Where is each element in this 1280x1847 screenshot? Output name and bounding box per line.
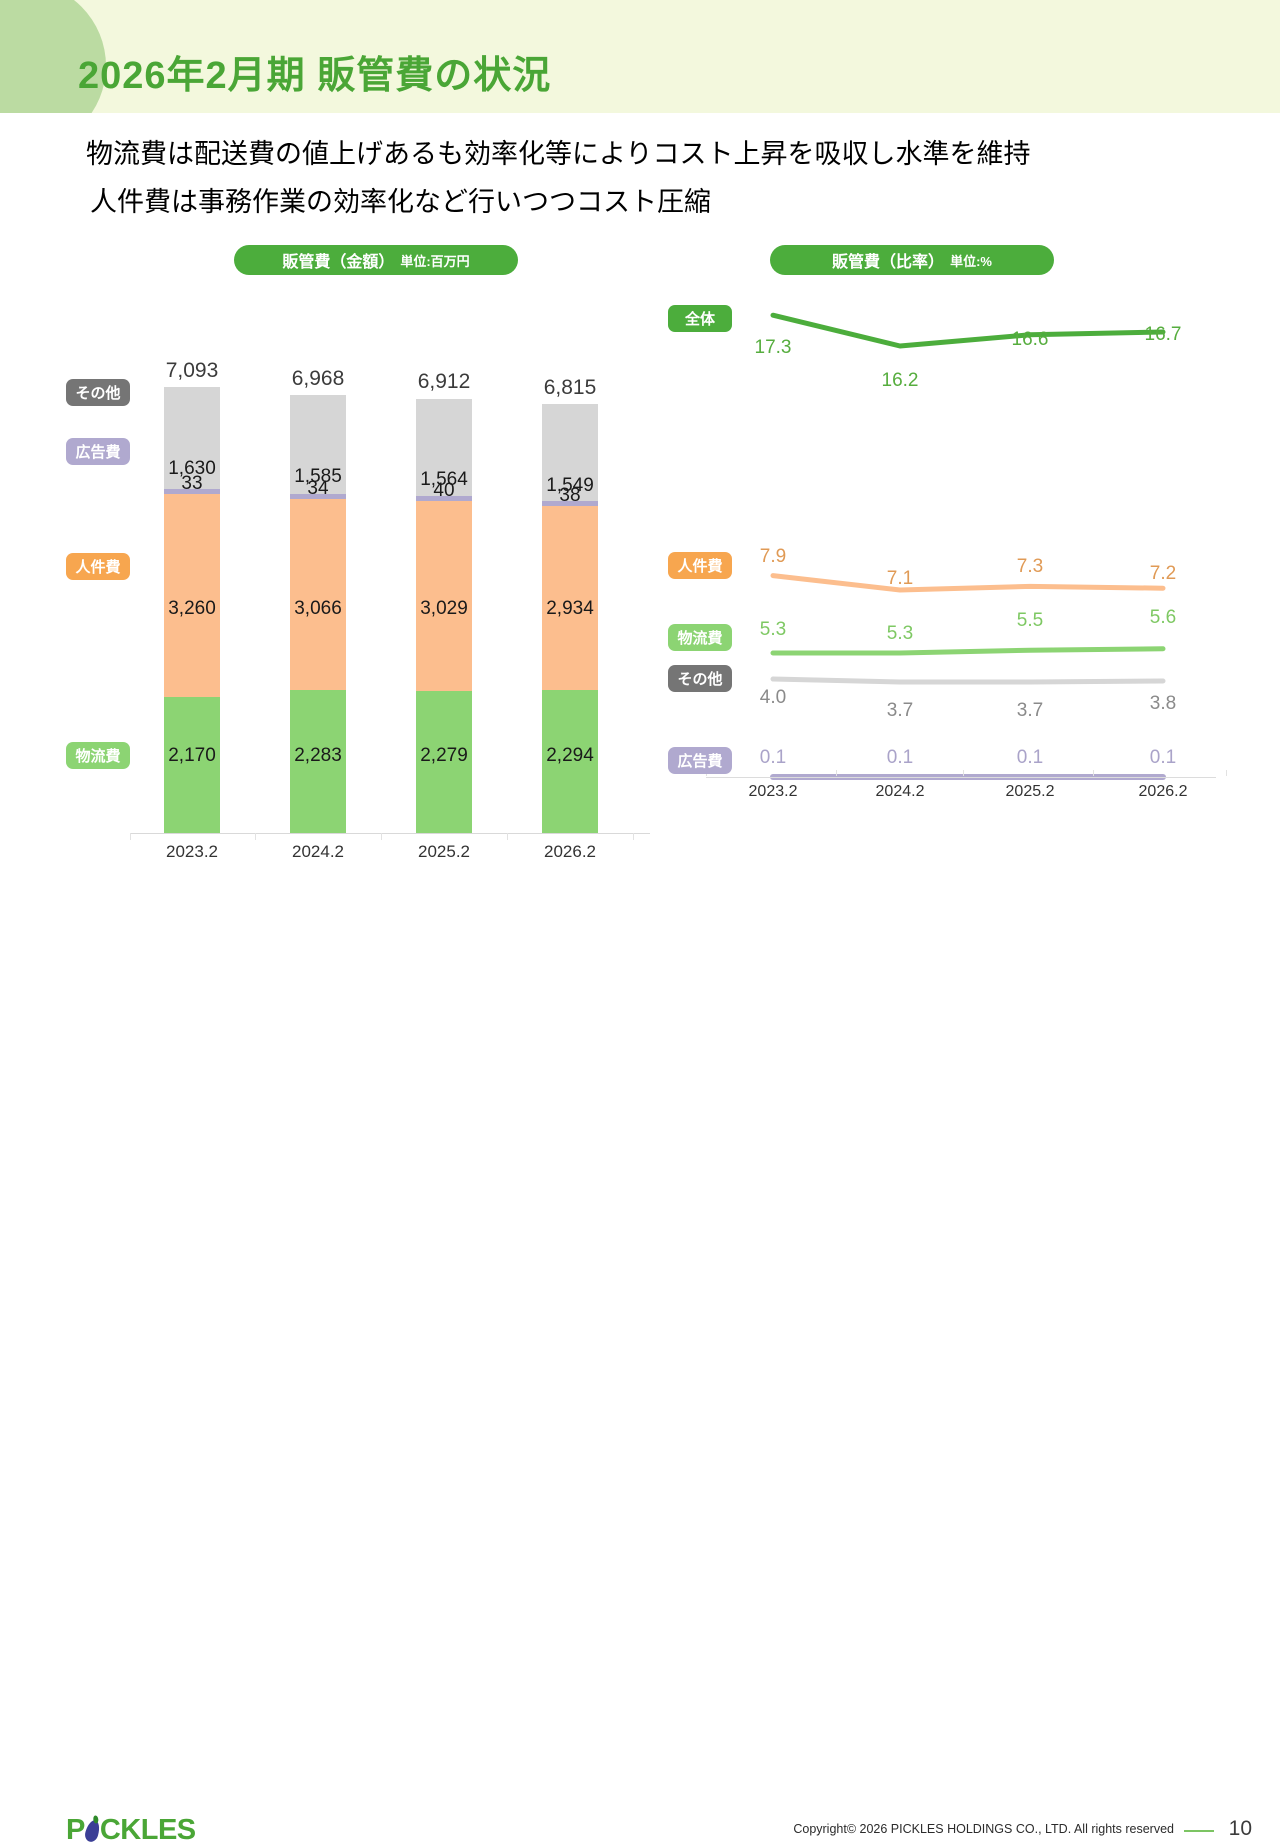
bar-total-label: 6,968 bbox=[273, 367, 363, 391]
line-data-label: 0.1 bbox=[995, 747, 1065, 769]
legend-chip-other-amount: その他 bbox=[66, 379, 130, 406]
line-data-label: 16.2 bbox=[865, 370, 935, 392]
bar-value-label: 2,294 bbox=[530, 745, 610, 767]
line-data-label: 0.1 bbox=[738, 747, 808, 769]
page-title: 2026年2月期 販管費の状況 bbox=[78, 44, 551, 99]
line-data-label: 16.7 bbox=[1128, 324, 1198, 346]
line-data-label: 0.1 bbox=[865, 747, 935, 769]
bar-axis-tick bbox=[130, 833, 131, 840]
page-number: 10 bbox=[1229, 1817, 1252, 1841]
line-data-label: 5.6 bbox=[1128, 607, 1198, 629]
bar-value-label: 2,279 bbox=[404, 745, 484, 767]
bar-value-label: 2,170 bbox=[152, 745, 232, 767]
subtitle-line-2: 人件費は事務作業の効率化など行いつつコスト圧縮 bbox=[90, 180, 711, 219]
legend-chip-other-ratio: その他 bbox=[668, 665, 732, 692]
bar-value-label: 1,630 bbox=[152, 458, 232, 480]
line-series-人件費 bbox=[773, 576, 1163, 590]
section-pill-amount-label: 販管費（金額） bbox=[282, 248, 394, 272]
section-pill-ratio: 販管費（比率） 単位:% bbox=[770, 245, 1054, 275]
section-pill-amount: 販管費（金額） 単位:百万円 bbox=[234, 245, 518, 275]
line-data-label: 4.0 bbox=[738, 687, 808, 709]
bar-axis-tick bbox=[633, 833, 634, 840]
section-pill-amount-unit: 単位:百万円 bbox=[400, 251, 469, 270]
bar-segment bbox=[164, 494, 220, 698]
line-chart-axis-line bbox=[706, 777, 1216, 778]
bar-x-tick-label: 2026.2 bbox=[525, 842, 615, 862]
bar-value-label: 3,029 bbox=[404, 598, 484, 620]
logo-text-p: P bbox=[66, 1814, 85, 1846]
line-data-label: 17.3 bbox=[738, 337, 808, 359]
line-series-物流費 bbox=[773, 649, 1163, 653]
legend-chip-ad-ratio: 広告費 bbox=[668, 747, 732, 774]
line-x-tick-label: 2026.2 bbox=[1113, 783, 1213, 801]
bar-value-label: 2,934 bbox=[530, 598, 610, 620]
footer-divider bbox=[1184, 1830, 1214, 1832]
bar-x-tick-label: 2024.2 bbox=[273, 842, 363, 862]
bar-value-label: 1,564 bbox=[404, 469, 484, 491]
bar-value-label: 1,549 bbox=[530, 475, 610, 497]
line-x-tick-label: 2024.2 bbox=[850, 783, 950, 801]
section-pill-ratio-unit: 単位:% bbox=[950, 251, 992, 270]
line-data-label: 7.3 bbox=[995, 556, 1065, 578]
legend-chip-logistics-amount: 物流費 bbox=[66, 742, 130, 769]
line-x-tick-label: 2023.2 bbox=[723, 783, 823, 801]
line-data-label: 3.8 bbox=[1128, 693, 1198, 715]
bar-total-label: 6,912 bbox=[399, 370, 489, 394]
bar-value-label: 1,585 bbox=[278, 466, 358, 488]
line-data-label: 3.7 bbox=[865, 700, 935, 722]
line-data-label: 5.3 bbox=[738, 619, 808, 641]
bar-total-label: 6,815 bbox=[525, 376, 615, 400]
section-pill-ratio-label: 販管費（比率） bbox=[832, 248, 944, 272]
line-series-その他 bbox=[773, 679, 1163, 682]
bar-axis-tick bbox=[381, 833, 382, 840]
line-axis-tick bbox=[1226, 770, 1227, 776]
bar-total-label: 7,093 bbox=[147, 359, 237, 383]
line-axis-tick bbox=[836, 770, 837, 776]
line-axis-tick bbox=[1093, 770, 1094, 776]
legend-chip-labor-amount: 人件費 bbox=[66, 553, 130, 580]
bar-value-label: 2,283 bbox=[278, 745, 358, 767]
bar-axis-tick bbox=[507, 833, 508, 840]
line-data-label: 7.2 bbox=[1128, 563, 1198, 585]
bar-value-label: 3,066 bbox=[278, 598, 358, 620]
bar-x-tick-label: 2025.2 bbox=[399, 842, 489, 862]
copyright-text: Copyright© 2026 PICKLES HOLDINGS CO., LT… bbox=[793, 1822, 1174, 1836]
logo-text-ckles: CKLES bbox=[100, 1814, 196, 1846]
line-data-label: 0.1 bbox=[1128, 747, 1198, 769]
line-data-label: 7.1 bbox=[865, 568, 935, 590]
bar-axis-tick bbox=[255, 833, 256, 840]
line-data-label: 7.9 bbox=[738, 546, 808, 568]
pickles-logo: PCKLES bbox=[66, 1814, 196, 1847]
line-x-tick-label: 2025.2 bbox=[980, 783, 1080, 801]
legend-chip-labor-ratio: 人件費 bbox=[668, 552, 732, 579]
bar-x-tick-label: 2023.2 bbox=[147, 842, 237, 862]
line-data-label: 3.7 bbox=[995, 700, 1065, 722]
line-axis-tick bbox=[963, 770, 964, 776]
footer: PCKLES Copyright© 2026 PICKLES HOLDINGS … bbox=[0, 900, 1280, 960]
legend-chip-logistics-ratio: 物流費 bbox=[668, 624, 732, 651]
eggplant-icon bbox=[83, 1819, 102, 1844]
line-data-label: 5.5 bbox=[995, 610, 1065, 632]
bar-segment bbox=[416, 501, 472, 690]
legend-chip-total-ratio: 全体 bbox=[668, 305, 732, 332]
bar-chart-axis-line bbox=[130, 833, 650, 834]
subtitle-line-1: 物流費は配送費の値上げあるも効率化等によりコスト上昇を吸収し水準を維持 bbox=[86, 132, 1030, 171]
legend-chip-ad-amount: 広告費 bbox=[66, 438, 130, 465]
line-data-label: 5.3 bbox=[865, 623, 935, 645]
line-series-全体 bbox=[773, 315, 1163, 346]
line-data-label: 16.6 bbox=[995, 329, 1065, 351]
bar-segment bbox=[290, 499, 346, 691]
bar-value-label: 3,260 bbox=[152, 598, 232, 620]
